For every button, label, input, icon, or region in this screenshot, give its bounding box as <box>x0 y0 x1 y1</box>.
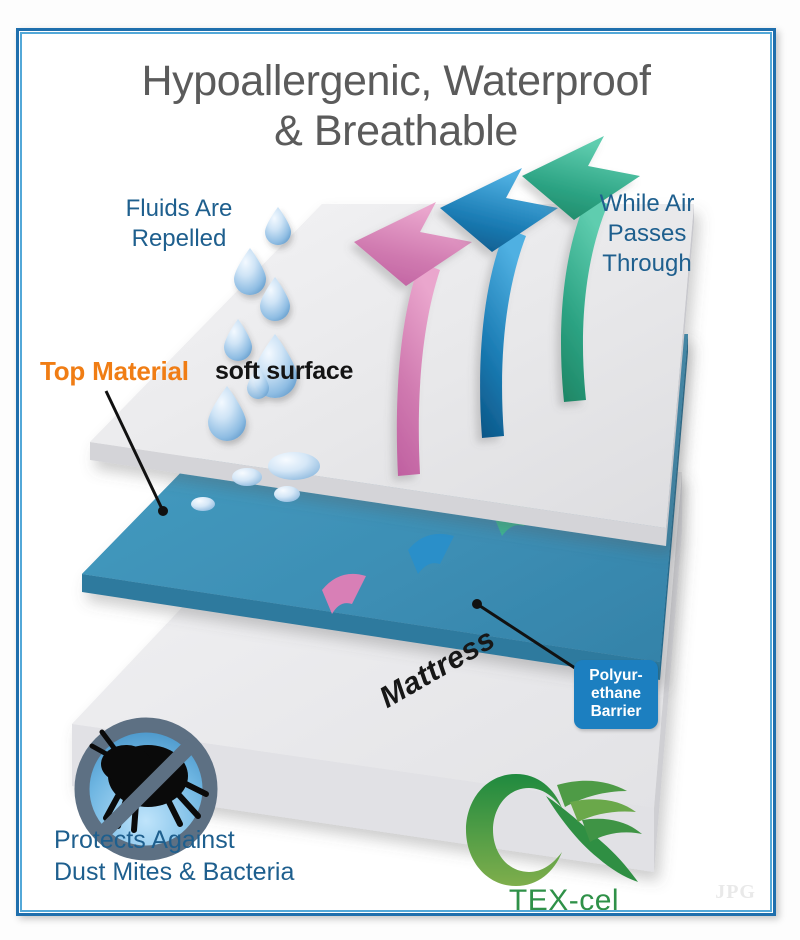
top-material-label: Top Material <box>40 356 189 387</box>
layered-mattress-illustration <box>22 34 770 910</box>
texcel-wordmark: TEX-cel <box>474 884 654 910</box>
poster-stage: Hypoallergenic, Waterproof & Breathable <box>22 34 770 910</box>
polyurethane-barrier-callout: Polyur- ethane Barrier <box>574 660 658 729</box>
poster-root: Hypoallergenic, Waterproof & Breathable <box>0 0 800 940</box>
watermark: JPG <box>715 881 756 904</box>
texcel-logo: TEX-cel <box>474 756 654 910</box>
protects-against-dust-mites-label: Protects Against Dust Mites & Bacteria <box>54 824 374 888</box>
fluids-repelled-label: Fluids Are Repelled <box>84 194 274 254</box>
soft-surface-label: soft surface <box>215 357 353 386</box>
air-passes-through-label: While Air Passes Through <box>562 189 732 278</box>
